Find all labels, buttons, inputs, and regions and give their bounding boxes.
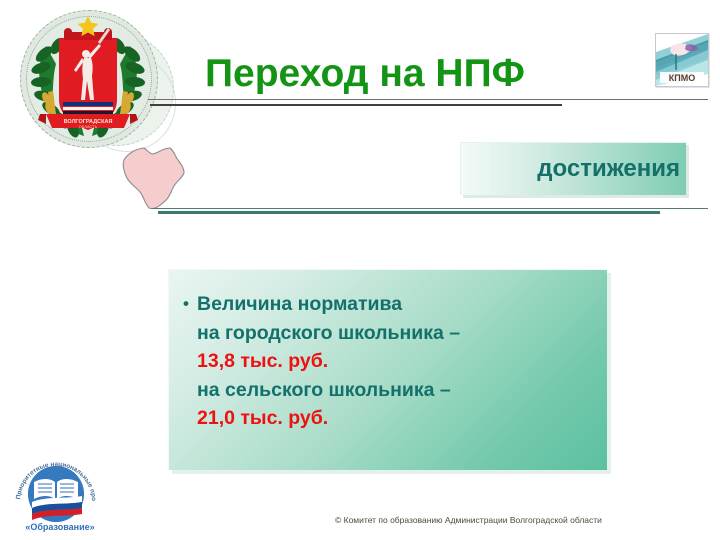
kpmo-logo: КПМО [655, 33, 709, 87]
content-line-text: Величина норматива [197, 293, 402, 315]
divider-mid-thick [158, 211, 660, 214]
content-line: 21,0 тыс. руб. [183, 404, 601, 433]
content-line-text: на сельского школьника – [197, 379, 451, 401]
divider-top-thick [150, 104, 562, 106]
national-project-word: «Образование» [25, 522, 94, 532]
svg-text:ОБЛАСТЬ: ОБЛАСТЬ [79, 124, 98, 129]
kpmo-label: КПМО [669, 73, 695, 83]
content-line: на сельского школьника – [183, 376, 601, 405]
content-line-value: 13,8 тыс. руб. [197, 350, 328, 372]
region-map-icon [118, 142, 190, 214]
slide-canvas: ВОЛГОГРАДСКАЯ ОБЛАСТЬ КПМО Переход на НП… [0, 0, 720, 540]
content-line-text: на городского школьника – [197, 322, 460, 344]
achievements-box: достижения [460, 142, 686, 195]
content-lines: •Величина норматива на городского школьн… [183, 290, 601, 433]
content-line: 13,8 тыс. руб. [183, 347, 601, 376]
bullet-icon: • [183, 290, 197, 319]
coat-of-arms-icon: ВОЛГОГРАДСКАЯ ОБЛАСТЬ [8, 2, 168, 157]
content-line: •Величина норматива [183, 290, 601, 319]
content-line-value: 21,0 тыс. руб. [197, 407, 328, 429]
national-project-emblem: Приоритетные национальные проекты «Образ… [8, 452, 112, 534]
divider-mid-thin [152, 208, 708, 209]
achievements-label: достижения [461, 143, 680, 195]
divider-top-thin [148, 99, 708, 100]
content-box: •Величина норматива на городского школьн… [168, 269, 607, 470]
coat-of-arms-logo: ВОЛГОГРАДСКАЯ ОБЛАСТЬ [8, 2, 168, 157]
content-line: на городского школьника – [183, 319, 601, 348]
page-title: Переход на НПФ [205, 50, 635, 98]
footer-copyright: © Комитет по образованию Администрации В… [335, 513, 715, 527]
